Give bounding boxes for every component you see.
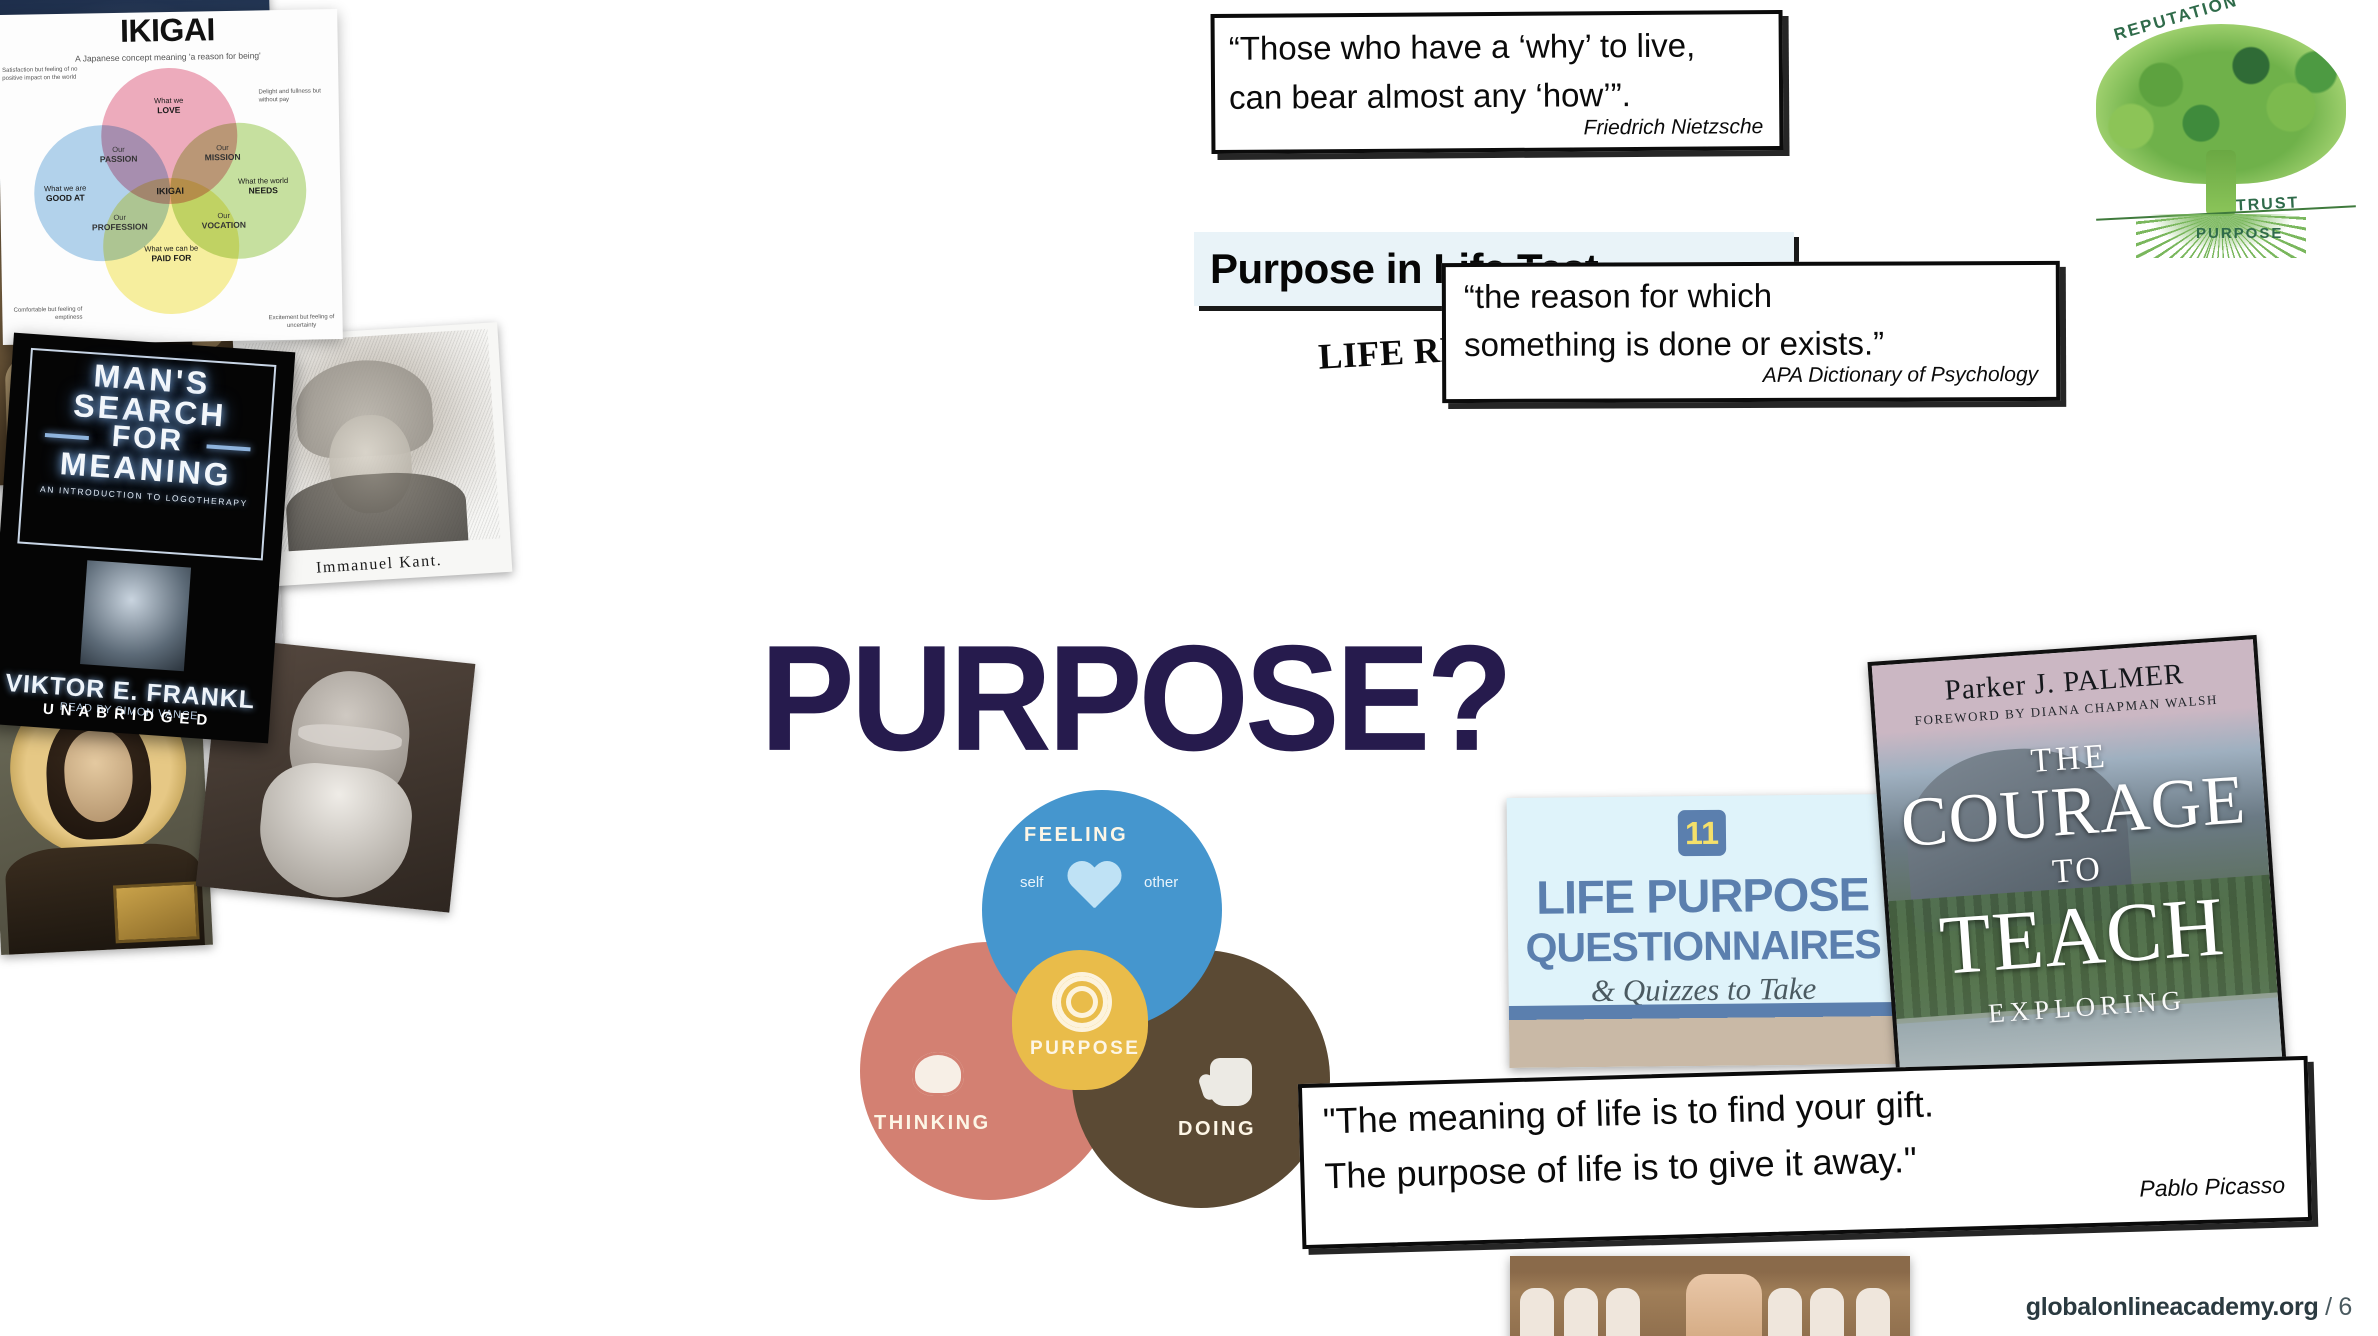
quote-box-nietzsche: “Those who have a ‘why’ to live, can bea… <box>1211 10 1784 154</box>
ikigai-label-good-at: What we are GOOD AT <box>28 183 102 204</box>
quiz-line1: LIFE PURPOSE <box>1507 866 1898 925</box>
quote-apa-line1: “the reason for which <box>1446 265 2056 315</box>
ikigai-subtitle: A Japanese concept meaning 'a reason for… <box>0 49 338 65</box>
ikigai-label-love: What we LOVE <box>132 95 206 116</box>
venn-label-thinking: THINKING <box>874 1112 991 1135</box>
christ-gospel-book <box>113 882 200 944</box>
quiz-bottom-band <box>1509 1002 1900 1068</box>
ikigai-title: IKIGAI <box>0 9 338 52</box>
tree-label-trust: TRUST <box>2236 194 2300 215</box>
quote-box-apa: “the reason for which something is done … <box>1442 261 2060 403</box>
heart-icon <box>1066 862 1122 914</box>
ikigai-label-center: IKIGAI <box>133 185 207 198</box>
footer: globalonlineacademy.org / 6 <box>2026 1293 2352 1322</box>
mans-search-for-meaning-book-cover: MAN'S SEARCH FOR MEANING AN INTRODUCTION… <box>0 333 295 744</box>
ikigai-label-mission: Our MISSION <box>185 142 259 163</box>
quote-apa-line2: something is done or exists.” <box>1446 313 2056 363</box>
ikigai-venn: What we LOVE What we are GOOD AT What th… <box>18 63 322 298</box>
venn-label-feeling: FEELING <box>1024 824 1128 847</box>
slide-canvas: Immanuel Kant. IKIGAI A Japanese concept… <box>0 0 2378 1336</box>
ikigai-note-3: Comfortable but feeling of emptiness <box>4 305 82 323</box>
purpose-tree-logo: REPUTATION TRUST PURPOSE <box>2068 0 2374 256</box>
ikigai-label-paid-for: What we can be PAID FOR <box>134 243 208 264</box>
ikigai-note-4: Excitement but feeling of uncertainty <box>262 313 340 331</box>
quote-apa-attribution: APA Dictionary of Psychology <box>1446 361 2056 388</box>
ikigai-label-profession: Our PROFESSION <box>83 212 157 233</box>
target-icon <box>1056 976 1108 1028</box>
venn-label-purpose: PURPOSE <box>1030 1038 1140 1060</box>
venn-label-other: other <box>1144 874 1178 891</box>
ikigai-label-vocation: Our VOCATION <box>187 210 261 231</box>
footer-separator: / <box>2325 1293 2332 1321</box>
frankl-title-frame: MAN'S SEARCH FOR MEANING AN INTRODUCTION… <box>17 348 276 561</box>
footer-page-number: 6 <box>2338 1293 2352 1321</box>
life-purpose-questionnaires-card: 11 LIFE PURPOSE QUESTIONNAIRES & Quizzes… <box>1507 794 1900 1068</box>
tree-label-purpose: PURPOSE <box>2196 225 2283 242</box>
hand-icon <box>1210 1058 1252 1106</box>
kant-caption: Immanuel Kant. <box>246 548 512 582</box>
quote-box-picasso: "The meaning of life is to find your gif… <box>1298 1056 2312 1249</box>
venn-label-self: self <box>1020 874 1043 891</box>
venn-label-doing: DOING <box>1178 1118 1256 1141</box>
ikigai-diagram: IKIGAI A Japanese concept meaning 'a rea… <box>0 9 343 345</box>
brain-icon <box>912 1052 964 1096</box>
quote-nietzsche-attribution: Friedrich Nietzsche <box>1215 113 1779 143</box>
footer-site: globalonlineacademy.org <box>2026 1293 2319 1321</box>
courage-to-teach-book-cover: Parker J. PALMER FOREWORD BY DIANA CHAPM… <box>1867 635 2286 1091</box>
darwin-beard <box>253 758 416 905</box>
ikigai-label-needs: What the world NEEDS <box>226 176 300 197</box>
page-title: PURPOSE? <box>760 624 1509 775</box>
quiz-count-badge: 11 <box>1678 810 1726 857</box>
ikigai-label-passion: Our PASSION <box>81 144 155 165</box>
quote-nietzsche-line1: “Those who have a ‘why’ to live, <box>1215 14 1779 67</box>
tree-trunk-icon <box>2206 150 2236 216</box>
purpose-venn-diagram: FEELING THINKING DOING PURPOSE self othe… <box>860 790 1330 1250</box>
quiz-line2: QUESTIONNAIRES <box>1508 921 1898 972</box>
quote-nietzsche-line2: can bear almost any ‘how’”. <box>1215 63 1779 116</box>
shoes-photo <box>1510 1256 1910 1336</box>
frankl-portrait <box>80 560 191 671</box>
